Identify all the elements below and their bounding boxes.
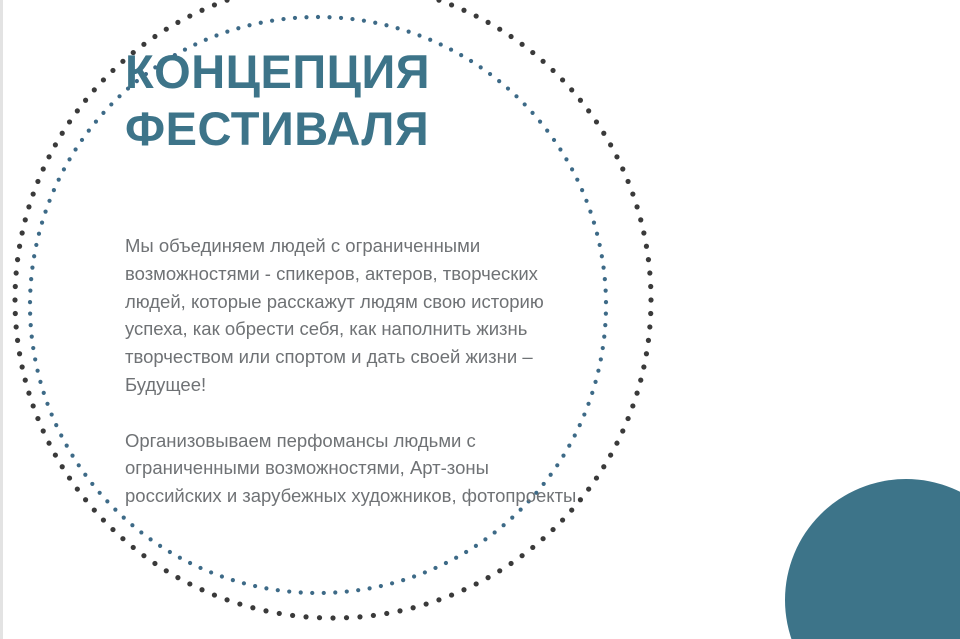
- content-column: КОНЦЕПЦИЯ ФЕСТИВАЛЯ Мы объединяем людей …: [125, 0, 595, 639]
- corner-circle-teal: [785, 479, 960, 639]
- page-title: КОНЦЕПЦИЯ ФЕСТИВАЛЯ: [125, 43, 595, 158]
- slide-canvas: КОНЦЕПЦИЯ ФЕСТИВАЛЯ Мы объединяем людей …: [0, 0, 960, 639]
- paragraph-performances: Организовываем перфомансы людьми с огран…: [125, 427, 585, 510]
- body-text-block: Мы объединяем людей с ограниченными возм…: [125, 232, 585, 510]
- paragraph-concept: Мы объединяем людей с ограниченными возм…: [125, 232, 585, 399]
